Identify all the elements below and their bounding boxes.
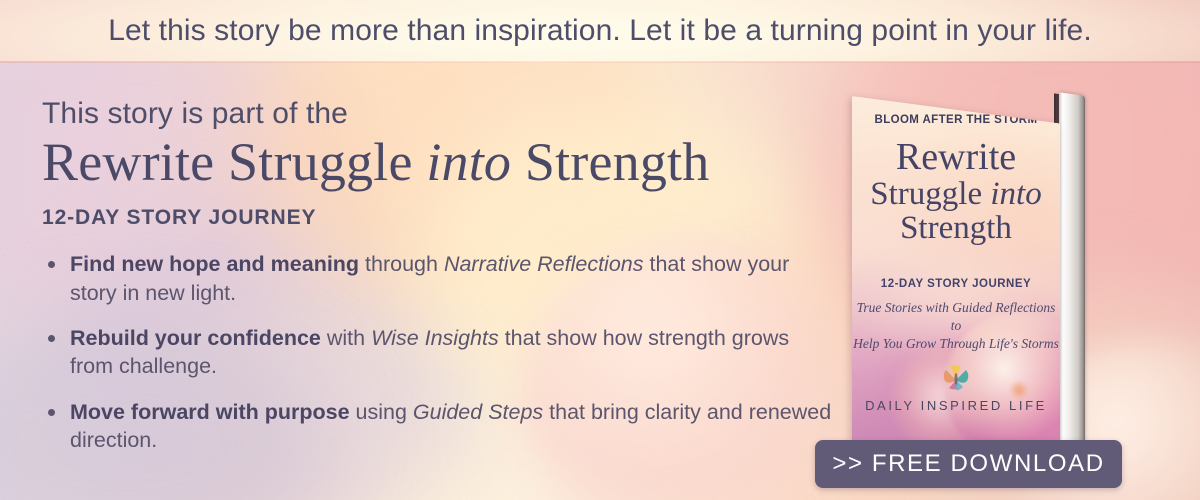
- list-item: Rebuild your confidence with Wise Insigh…: [42, 324, 832, 381]
- butterfly-icon: [936, 364, 976, 394]
- book-title-line-2-pre: Struggle: [870, 176, 990, 212]
- book-brand: DAILY INSPIRED LIFE: [852, 398, 1060, 413]
- benefit-list: Find new hope and meaning through Narrat…: [42, 250, 832, 454]
- bullet-dot-icon: [48, 409, 55, 416]
- book-title-line-2: Struggle into: [852, 178, 1060, 211]
- book-title-italic-word: into: [990, 176, 1041, 212]
- book-journey-label: 12-DAY STORY JOURNEY: [852, 278, 1060, 290]
- promo-banner: Let this story be more than inspiration.…: [0, 0, 1200, 500]
- bullet-bold-lead: Move forward with purpose: [70, 400, 350, 424]
- title-italic-word: into: [426, 132, 511, 192]
- bullet-bold-lead: Rebuild your confidence: [70, 326, 321, 350]
- book-eyebrow: BLOOM AFTER THE STORM: [852, 114, 1060, 126]
- header-tagline: Let this story be more than inspiration.…: [0, 0, 1200, 62]
- list-item: Find new hope and meaning through Narrat…: [42, 250, 832, 307]
- title-part-two: Strength: [511, 132, 709, 192]
- bullet-bold-lead: Find new hope and meaning: [70, 252, 359, 276]
- page-title: Rewrite Struggle into Strength: [42, 134, 832, 191]
- book-title-line-3: Strength: [852, 212, 1060, 245]
- title-part-one: Rewrite Struggle: [42, 132, 426, 192]
- book-mockup: BLOOM AFTER THE STORM Rewrite Struggle i…: [840, 80, 1140, 450]
- book-title-line-1: Rewrite: [852, 138, 1060, 176]
- book-cover-inner: BLOOM AFTER THE STORM Rewrite Struggle i…: [852, 96, 1060, 446]
- bullet-italic-term: Guided Steps: [413, 400, 543, 424]
- bullet-mid-text: with: [321, 326, 371, 350]
- list-item: Move forward with purpose using Guided S…: [42, 398, 832, 455]
- bullet-italic-term: Narrative Reflections: [444, 252, 644, 276]
- bullet-dot-icon: [48, 335, 55, 342]
- book-subtitle-line-2: Help You Grow Through Life's Storms: [853, 336, 1059, 351]
- book-page-edges: [1059, 92, 1085, 445]
- book-cover: BLOOM AFTER THE STORM Rewrite Struggle i…: [852, 96, 1060, 473]
- bullet-italic-term: Wise Insights: [371, 326, 499, 350]
- copy-column: This story is part of the Rewrite Strugg…: [42, 98, 832, 454]
- free-download-button[interactable]: >> FREE DOWNLOAD: [815, 440, 1122, 488]
- bullet-dot-icon: [48, 261, 55, 268]
- book-subtitle: True Stories with Guided Reflections to …: [852, 299, 1060, 352]
- subkicker-text: 12-DAY STORY JOURNEY: [42, 206, 832, 230]
- book-title: Rewrite Struggle into Strength: [852, 138, 1060, 245]
- kicker-text: This story is part of the: [42, 98, 832, 130]
- free-download-label: >> FREE DOWNLOAD: [815, 440, 1122, 488]
- book-subtitle-line-1: True Stories with Guided Reflections to: [857, 300, 1056, 333]
- bullet-mid-text: through: [359, 252, 444, 276]
- bullet-mid-text: using: [350, 400, 413, 424]
